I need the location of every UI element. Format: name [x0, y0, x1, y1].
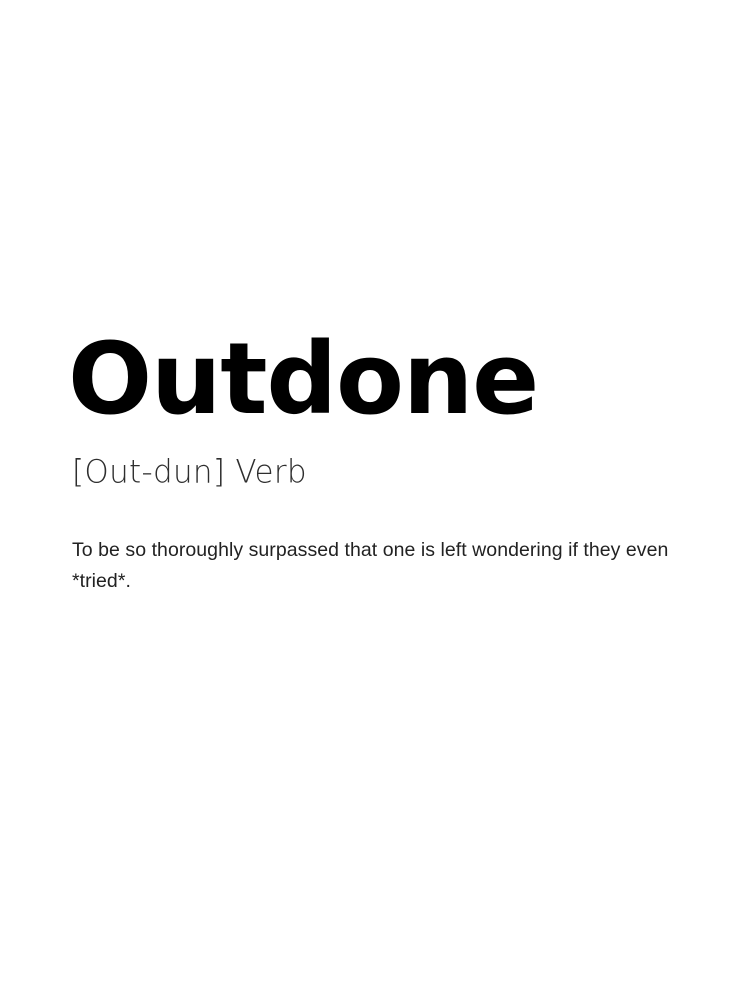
definition-poster: Outdone [Out-dun] Verb To be so thorough…: [0, 0, 748, 997]
definition-body-text: To be so thoroughly surpassed that one i…: [72, 535, 672, 597]
definition-card: Outdone [Out-dun] Verb To be so thorough…: [72, 330, 676, 597]
word-title: Outdone: [72, 330, 676, 429]
pronunciation-and-part-of-speech: [Out-dun] Verb: [72, 455, 676, 491]
